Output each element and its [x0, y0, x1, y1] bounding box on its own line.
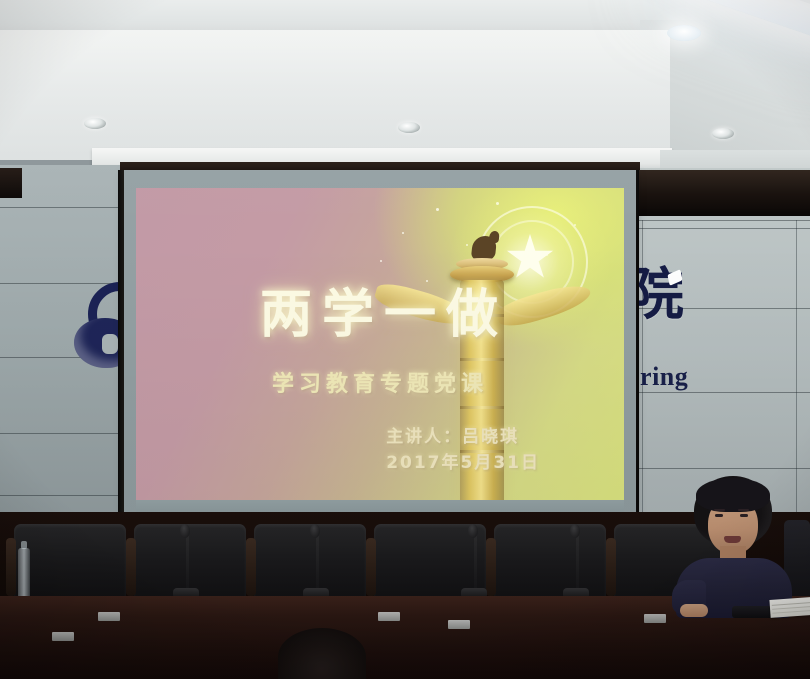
presentation-slide: 两学一做 学习教育专题党课 主讲人：吕晓琪 2017年5月31日: [136, 188, 624, 506]
fluorescent-light-end-icon: [667, 25, 701, 41]
slide-subtitle: 学习教育专题党课: [136, 366, 624, 398]
chair: [494, 524, 606, 602]
nameplate: [378, 612, 400, 621]
chair: [14, 524, 126, 602]
speaker-hair-front: [696, 478, 770, 512]
lecture-hall-photo: 院 ering 两学一做 学习教育专题党课: [0, 0, 810, 679]
papers-icon: [769, 596, 810, 618]
microphone-head-icon: [310, 524, 320, 538]
valance-left: [0, 168, 22, 198]
speaker-hand: [680, 604, 708, 617]
microphone-head-icon: [468, 524, 478, 538]
ceiling-main-band: [0, 30, 670, 160]
water-bottle-icon: [18, 548, 30, 600]
downlight-icon: [398, 122, 420, 133]
microphone-icon: [474, 532, 477, 594]
valance-right: [626, 170, 810, 216]
microphone-head-icon: [570, 524, 580, 538]
slide-date: 2017年5月31日: [386, 450, 540, 476]
microphone-icon: [316, 532, 319, 594]
nameplate: [448, 620, 470, 629]
microphone-icon: [186, 532, 189, 594]
downlight-icon: [712, 128, 734, 139]
microphone-icon: [576, 532, 579, 594]
slide-title: 两学一做: [136, 272, 624, 347]
downlight-icon: [84, 118, 106, 129]
audience-head: [278, 628, 366, 679]
nameplate: [52, 632, 74, 641]
column-lion-icon: [471, 236, 498, 260]
speaker-mouth: [724, 536, 741, 543]
slide-presenter-block: 主讲人：吕晓琪 2017年5月31日: [386, 424, 540, 477]
nameplate: [98, 612, 120, 621]
slide-presenter: 主讲人：吕晓琪: [386, 424, 540, 450]
speaker-person: [672, 476, 796, 616]
nameplate: [644, 614, 666, 623]
microphone-head-icon: [180, 524, 190, 538]
